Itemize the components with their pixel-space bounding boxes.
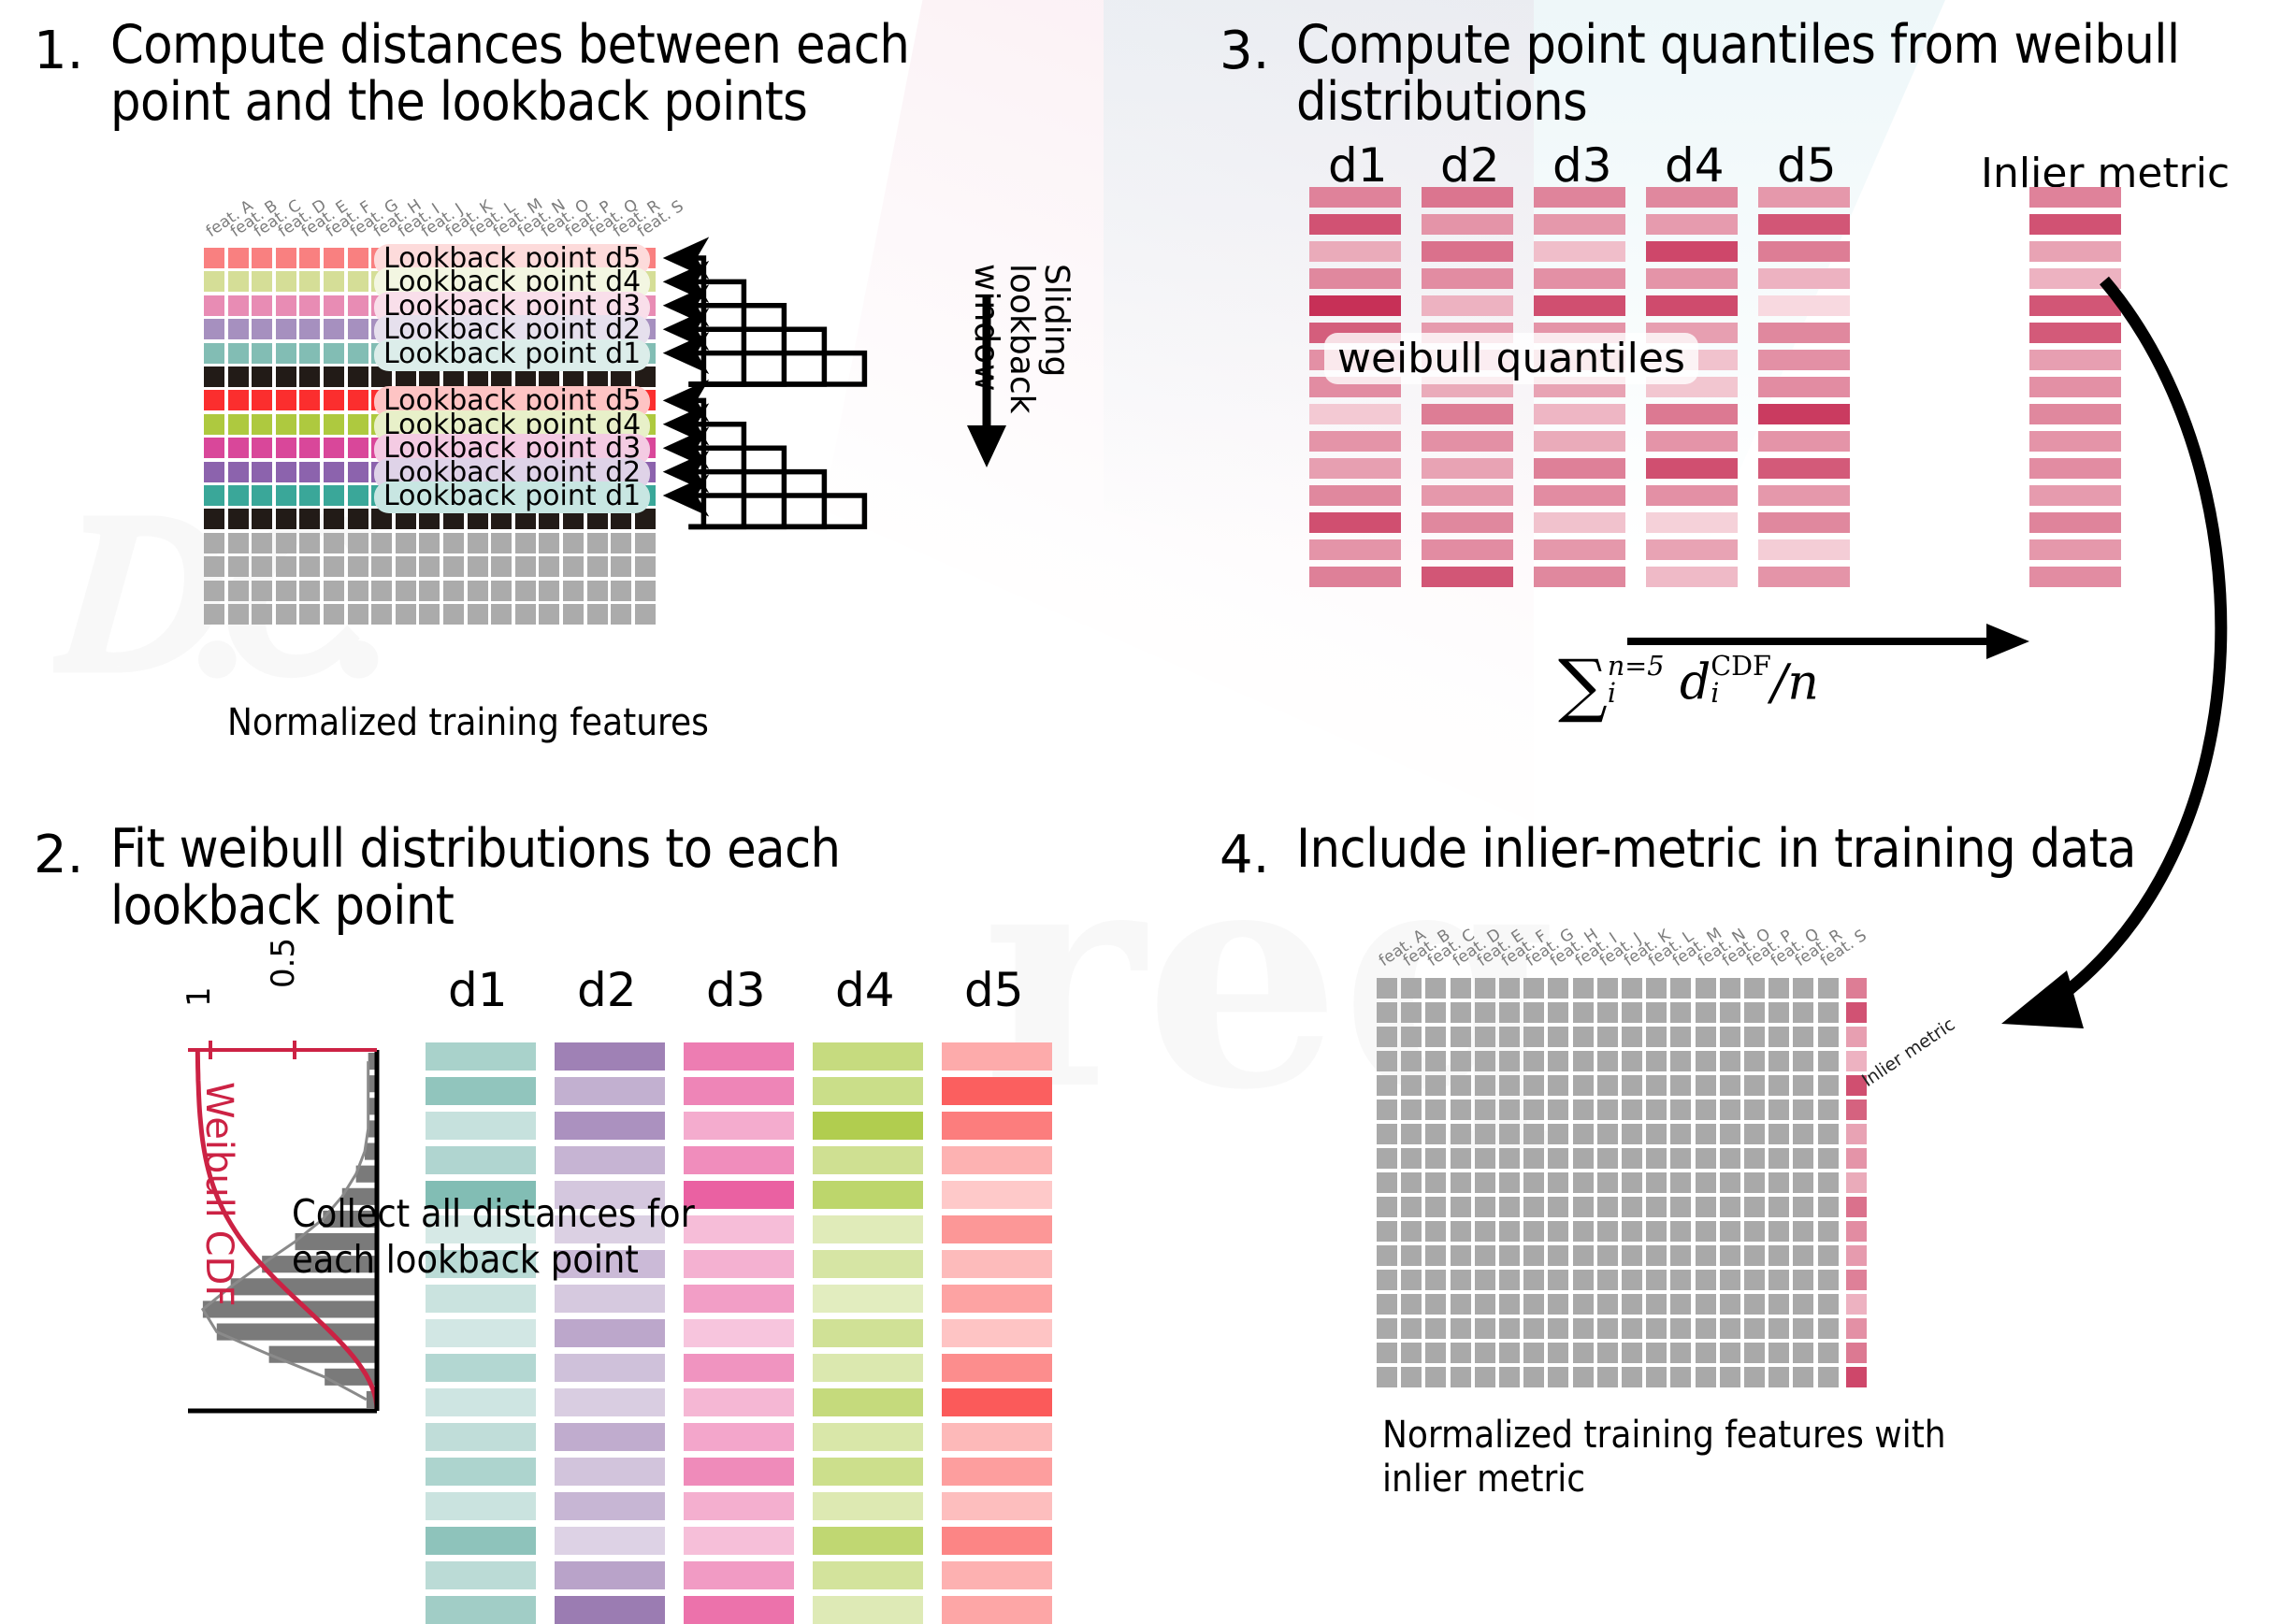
- feature-cell: [1646, 1221, 1667, 1242]
- heatmap-cell: [276, 366, 296, 387]
- heatmap-cell: [371, 581, 392, 601]
- feature-cell: [1451, 978, 1471, 999]
- feature-cell: [1622, 1318, 1642, 1339]
- feature-cell: [1768, 1099, 1789, 1120]
- feature-cell: [1499, 1367, 1520, 1387]
- feature-cell: [1744, 1367, 1765, 1387]
- feature-cell: [1670, 1318, 1691, 1339]
- feature-cell: [1499, 1343, 1520, 1363]
- feature-cell: [1523, 1002, 1544, 1023]
- heatmap-cell: [324, 509, 344, 529]
- feature-cell: [1523, 1099, 1544, 1120]
- inlier-metric-cell: [1846, 1148, 1867, 1169]
- distance-bar: [684, 1319, 794, 1347]
- feature-cell: [1720, 1270, 1740, 1290]
- inlier-metric-formula: ∑ n=5 i d CDF i /n: [1558, 645, 1819, 726]
- distance-bar: [426, 1077, 536, 1105]
- distance-bar: [942, 1146, 1052, 1174]
- heatmap-cell: [204, 509, 224, 529]
- heatmap-cell: [419, 533, 440, 553]
- quantile-bar: [1534, 539, 1625, 560]
- feature-cell: [1597, 1099, 1618, 1120]
- quantile-bar: [1758, 214, 1850, 235]
- heatmap-cell: [299, 462, 320, 482]
- quantile-bar: [1309, 241, 1401, 262]
- panel-2-number: 2.: [34, 825, 83, 885]
- feature-cell: [1523, 1027, 1544, 1047]
- feature-cell: [1475, 1197, 1495, 1217]
- heatmap-cell: [324, 319, 344, 339]
- distance-bar: [942, 1215, 1052, 1243]
- distance-bar: [684, 1112, 794, 1140]
- feature-cell: [1451, 1245, 1471, 1266]
- panel-3-number: 3.: [1220, 21, 1269, 81]
- panel-2-header-d4: d4: [835, 963, 895, 1017]
- feature-cell: [1401, 1051, 1422, 1071]
- distance-bar: [813, 1042, 923, 1071]
- feature-cell: [1548, 1318, 1568, 1339]
- feature-cell: [1646, 1051, 1667, 1071]
- feature-cell: [1573, 1245, 1594, 1266]
- quantile-bar: [1646, 295, 1738, 316]
- heatmap-cell: [252, 556, 272, 577]
- quantile-bar: [1646, 485, 1738, 506]
- heatmap-cell: [252, 414, 272, 435]
- feature-cell: [1818, 1245, 1839, 1266]
- feature-cell: [1499, 1075, 1520, 1096]
- feature-cell: [1597, 1148, 1618, 1169]
- feature-cell: [1768, 1051, 1789, 1071]
- heatmap-cell: [587, 556, 608, 577]
- heatmap-cell: [299, 319, 320, 339]
- feature-cell: [1768, 1294, 1789, 1315]
- feature-cell: [1597, 1027, 1618, 1047]
- quantile-bar: [1422, 485, 1513, 506]
- heatmap-cell: [419, 556, 440, 577]
- feature-cell: [1622, 1051, 1642, 1071]
- feature-cell: [1646, 1294, 1667, 1315]
- weibull-cdf-curve-label: Weibull CDF: [197, 1082, 240, 1306]
- quantile-bar: [1646, 187, 1738, 208]
- feature-cell: [1793, 1245, 1813, 1266]
- feature-cell: [1696, 1075, 1716, 1096]
- feature-cell: [1499, 1197, 1520, 1217]
- quantile-bar: [1309, 431, 1401, 452]
- heatmap-cell: [348, 319, 368, 339]
- panel-2: 2. Fit weibull distributions to each loo…: [0, 804, 1141, 1586]
- distance-bar: [942, 1527, 1052, 1555]
- feature-cell: [1744, 1197, 1765, 1217]
- heatmap-cell: [324, 604, 344, 625]
- panel-3-header-d2: d2: [1440, 138, 1500, 193]
- distance-bar: [684, 1492, 794, 1520]
- feature-cell: [1548, 1343, 1568, 1363]
- heatmap-cell: [252, 319, 272, 339]
- quantile-bar: [1534, 187, 1625, 208]
- heatmap-cell: [611, 556, 631, 577]
- feature-cell: [1499, 1221, 1520, 1242]
- heatmap-cell: [491, 604, 512, 625]
- feature-cell: [1548, 1197, 1568, 1217]
- distance-bar: [813, 1388, 923, 1416]
- heatmap-cell: [324, 581, 344, 601]
- distance-bar: [684, 1042, 794, 1071]
- feature-cell: [1523, 1148, 1544, 1169]
- quantile-bar: [1422, 241, 1513, 262]
- heatmap-cell: [276, 248, 296, 268]
- quantile-bar: [1646, 458, 1738, 479]
- feature-cell: [1646, 1197, 1667, 1217]
- feature-cell: [1523, 1075, 1544, 1096]
- feature-cell: [1573, 1099, 1594, 1120]
- feature-cell: [1696, 1027, 1716, 1047]
- heatmap-cell: [299, 509, 320, 529]
- quantile-bar: [1758, 295, 1850, 316]
- feature-cell: [1720, 1027, 1740, 1047]
- feature-cell: [1720, 1051, 1740, 1071]
- quantile-bar: [1758, 350, 1850, 370]
- heatmap-cell: [491, 581, 512, 601]
- heatmap-cell: [587, 604, 608, 625]
- feature-cell: [1622, 1075, 1642, 1096]
- heatmap-cell: [204, 438, 224, 458]
- distance-bar: [813, 1146, 923, 1174]
- quantile-bar: [1309, 485, 1401, 506]
- distance-bar: [555, 1319, 665, 1347]
- panel-3-title: Compute point quantiles from weibull dis…: [1296, 17, 2241, 131]
- feature-cell: [1523, 1221, 1544, 1242]
- feature-cell: [1548, 1002, 1568, 1023]
- quantile-bar: [1534, 431, 1625, 452]
- heatmap-cell: [204, 366, 224, 387]
- feature-cell: [1451, 1051, 1471, 1071]
- feature-cell: [1425, 1148, 1446, 1169]
- feature-cell: [1768, 1221, 1789, 1242]
- heatmap-cell: [228, 604, 249, 625]
- feature-cell: [1696, 978, 1716, 999]
- feature-cell: [1573, 1221, 1594, 1242]
- feature-cell: [1696, 1367, 1716, 1387]
- quantile-bar: [1309, 404, 1401, 424]
- sliding-line-1: Sliding: [1037, 264, 1076, 377]
- panel-1-caption: Normalized training features: [227, 701, 709, 745]
- feature-cell: [1548, 1051, 1568, 1071]
- feature-cell: [1597, 1367, 1618, 1387]
- feature-cell: [1377, 1148, 1397, 1169]
- feature-cell: [1670, 1245, 1691, 1266]
- feature-cell: [1768, 1124, 1789, 1144]
- feature-cell: [1622, 1343, 1642, 1363]
- feature-cell: [1768, 1270, 1789, 1290]
- distance-bar: [942, 1596, 1052, 1624]
- feature-cell: [1401, 1124, 1422, 1144]
- feature-cell: [1670, 1075, 1691, 1096]
- heatmap-cell: [443, 604, 464, 625]
- feature-cell: [1768, 978, 1789, 999]
- heatmap-cell: [324, 390, 344, 410]
- quantile-bar: [1422, 567, 1513, 587]
- heatmap-cell: [252, 271, 272, 292]
- quantile-bar: [1646, 512, 1738, 533]
- feature-cell: [1622, 1099, 1642, 1120]
- inlier-metric-cell: [1846, 1124, 1867, 1144]
- heatmap-cell: [468, 533, 488, 553]
- heatmap-cell: [348, 343, 368, 364]
- feature-cell: [1475, 1221, 1495, 1242]
- feature-cell: [1401, 1245, 1422, 1266]
- heatmap-cell: [491, 556, 512, 577]
- distance-bar: [942, 1250, 1052, 1278]
- heatmap-cell: [204, 414, 224, 435]
- distance-bar: [942, 1285, 1052, 1313]
- feature-cell: [1696, 1099, 1716, 1120]
- quantile-bar: [1309, 567, 1401, 587]
- lookback-point-pill: Lookback point d1: [374, 481, 650, 513]
- feature-cell: [1720, 1075, 1740, 1096]
- formula-sigma: ∑: [1558, 645, 1608, 726]
- feature-cell: [1646, 1075, 1667, 1096]
- feature-cell: [1744, 1343, 1765, 1363]
- heatmap-cell: [324, 556, 344, 577]
- feature-cell: [1451, 1027, 1471, 1047]
- quantile-bar: [1758, 377, 1850, 397]
- distance-bar: [426, 1492, 536, 1520]
- feature-cell: [1475, 1124, 1495, 1144]
- heatmap-cell: [204, 485, 224, 506]
- heatmap-cell: [468, 604, 488, 625]
- feature-cell: [1646, 1343, 1667, 1363]
- heatmap-cell: [539, 581, 559, 601]
- feature-cell: [1499, 1148, 1520, 1169]
- feature-cell: [1793, 1343, 1813, 1363]
- feature-cell: [1744, 1294, 1765, 1315]
- feature-cell: [1377, 1197, 1397, 1217]
- heatmap-cell: [371, 533, 392, 553]
- feature-cell: [1696, 1124, 1716, 1144]
- heatmap-cell: [276, 556, 296, 577]
- inlier-metric-bar: [2029, 214, 2121, 235]
- feature-cell: [1696, 1221, 1716, 1242]
- feature-cell: [1622, 1002, 1642, 1023]
- heatmap-cell: [468, 581, 488, 601]
- feature-cell: [1768, 1343, 1789, 1363]
- feature-cell: [1499, 978, 1520, 999]
- heatmap-cell: [252, 343, 272, 364]
- quantile-bar: [1758, 485, 1850, 506]
- heatmap-cell: [228, 485, 249, 506]
- feature-cell: [1670, 1148, 1691, 1169]
- feature-cell: [1622, 1221, 1642, 1242]
- heatmap-cell: [252, 438, 272, 458]
- feature-cell: [1622, 1027, 1642, 1047]
- feature-cell: [1818, 1197, 1839, 1217]
- feature-cell: [1377, 1172, 1397, 1193]
- feature-cell: [1451, 1294, 1471, 1315]
- distance-bar: [942, 1319, 1052, 1347]
- feature-cell: [1696, 1245, 1716, 1266]
- inlier-metric-bar: [2029, 431, 2121, 452]
- heatmap-cell: [635, 604, 656, 625]
- feature-cell: [1573, 1124, 1594, 1144]
- feature-cell: [1475, 1148, 1495, 1169]
- inlier-metric-bar: [2029, 567, 2121, 587]
- feature-cell: [1401, 1148, 1422, 1169]
- inlier-metric-bar: [2029, 323, 2121, 343]
- distance-bar: [813, 1181, 923, 1209]
- feature-cell: [1768, 1172, 1789, 1193]
- feature-cell: [1425, 1367, 1446, 1387]
- panel-4-number: 4.: [1220, 825, 1269, 885]
- heatmap-cell: [276, 533, 296, 553]
- panel-4-caption-value: Normalized training features with inlier…: [1382, 1414, 1946, 1501]
- feature-cell: [1499, 1270, 1520, 1290]
- distance-bar: [555, 1354, 665, 1382]
- heatmap-cell: [419, 604, 440, 625]
- heatmap-cell: [204, 343, 224, 364]
- feature-cell: [1401, 1294, 1422, 1315]
- feature-cell: [1744, 1318, 1765, 1339]
- quantile-bar: [1309, 295, 1401, 316]
- feature-cell: [1720, 1099, 1740, 1120]
- distance-bar: [684, 1458, 794, 1486]
- distance-bar: [426, 1319, 536, 1347]
- heatmap-cell: [228, 509, 249, 529]
- quantile-bar: [1758, 458, 1850, 479]
- distance-bar: [684, 1596, 794, 1624]
- heatmap-cell: [204, 533, 224, 553]
- feature-cell: [1696, 1002, 1716, 1023]
- heatmap-cell: [324, 414, 344, 435]
- feature-cell: [1451, 1124, 1471, 1144]
- panel-2-header-d5: d5: [964, 963, 1024, 1017]
- distance-bar: [942, 1423, 1052, 1451]
- distance-bar: [684, 1423, 794, 1451]
- feature-cell: [1622, 1367, 1642, 1387]
- feature-cell: [1768, 1075, 1789, 1096]
- panel-3-header-d4: d4: [1665, 138, 1725, 193]
- panel-1-title: Compute distances between each point and…: [110, 17, 1018, 131]
- feature-cell: [1793, 1002, 1813, 1023]
- feature-cell: [1597, 1294, 1618, 1315]
- distance-bar: [942, 1181, 1052, 1209]
- feature-cell: [1793, 1197, 1813, 1217]
- formula-sup: CDF: [1711, 653, 1771, 680]
- distance-bar: [426, 1146, 536, 1174]
- feature-cell: [1646, 1124, 1667, 1144]
- feature-cell: [1768, 1367, 1789, 1387]
- inlier-metric-cell: [1846, 1318, 1867, 1339]
- feature-cell: [1499, 1318, 1520, 1339]
- heatmap-cell: [348, 414, 368, 435]
- feature-cell: [1793, 1294, 1813, 1315]
- feature-cell: [1670, 1172, 1691, 1193]
- heatmap-cell: [348, 533, 368, 553]
- heatmap-cell: [276, 319, 296, 339]
- inlier-metric-cell: [1846, 1051, 1867, 1071]
- feature-cell: [1646, 1270, 1667, 1290]
- feature-cell: [1696, 1172, 1716, 1193]
- heatmap-cell: [515, 581, 536, 601]
- feature-cell: [1768, 1245, 1789, 1266]
- distance-bar: [426, 1458, 536, 1486]
- feature-cell: [1451, 1099, 1471, 1120]
- feature-cell: [1377, 1294, 1397, 1315]
- feature-cell: [1670, 978, 1691, 999]
- feature-cell: [1451, 1075, 1471, 1096]
- feature-cell: [1548, 1124, 1568, 1144]
- feature-cell: [1377, 1318, 1397, 1339]
- distance-bar: [942, 1492, 1052, 1520]
- feature-cell: [1793, 1075, 1813, 1096]
- distance-bar: [426, 1527, 536, 1555]
- heatmap-cell: [228, 556, 249, 577]
- distance-bar: [426, 1596, 536, 1624]
- quantile-bar: [1646, 268, 1738, 289]
- quantile-bar: [1309, 268, 1401, 289]
- feature-cell: [1475, 1051, 1495, 1071]
- feature-cell: [1425, 1099, 1446, 1120]
- feature-cell: [1696, 1294, 1716, 1315]
- heatmap-cell: [204, 295, 224, 316]
- feature-cell: [1401, 1318, 1422, 1339]
- heatmap-cell: [228, 414, 249, 435]
- quantile-bar: [1422, 512, 1513, 533]
- heatmap-cell: [371, 556, 392, 577]
- quantile-bar: [1758, 404, 1850, 424]
- heatmap-cell: [635, 533, 656, 553]
- feature-cell: [1523, 1172, 1544, 1193]
- feature-cell: [1646, 1172, 1667, 1193]
- quantile-bar: [1646, 404, 1738, 424]
- feature-cell: [1425, 978, 1446, 999]
- feature-cell: [1475, 1099, 1495, 1120]
- heatmap-cell: [348, 581, 368, 601]
- distance-bar: [555, 1423, 665, 1451]
- feature-cell: [1597, 1172, 1618, 1193]
- feature-cell: [1818, 1172, 1839, 1193]
- feature-cell: [1768, 1197, 1789, 1217]
- heatmap-cell: [587, 581, 608, 601]
- feature-cell: [1523, 1367, 1544, 1387]
- heatmap-cell: [468, 556, 488, 577]
- heatmap-cell: [348, 390, 368, 410]
- heatmap-cell: [324, 295, 344, 316]
- inlier-metric-cell: [1846, 1245, 1867, 1266]
- heatmap-cell: [204, 462, 224, 482]
- panel-4: 4. Include inlier-metric in training dat…: [1206, 804, 2281, 1586]
- feature-cell: [1523, 1294, 1544, 1315]
- heatmap-cell: [299, 438, 320, 458]
- feature-cell: [1451, 1367, 1471, 1387]
- panel-4-title: Include inlier-metric in training data: [1296, 821, 2241, 878]
- feature-cell: [1696, 1148, 1716, 1169]
- panel-2-header-d2: d2: [577, 963, 637, 1017]
- inlier-metric-cell: [1846, 1197, 1867, 1217]
- heatmap-cell: [299, 485, 320, 506]
- heatmap-cell: [539, 533, 559, 553]
- quantile-bar: [1422, 404, 1513, 424]
- feature-cell: [1475, 1027, 1495, 1047]
- histogram-bar: [217, 1324, 377, 1341]
- feature-cell: [1818, 1124, 1839, 1144]
- distance-bar: [555, 1112, 665, 1140]
- heatmap-cell: [324, 462, 344, 482]
- quantile-bar: [1534, 485, 1625, 506]
- feature-cell: [1793, 1051, 1813, 1071]
- heatmap-cell: [635, 581, 656, 601]
- distance-bar: [942, 1354, 1052, 1382]
- feature-cell: [1523, 1124, 1544, 1144]
